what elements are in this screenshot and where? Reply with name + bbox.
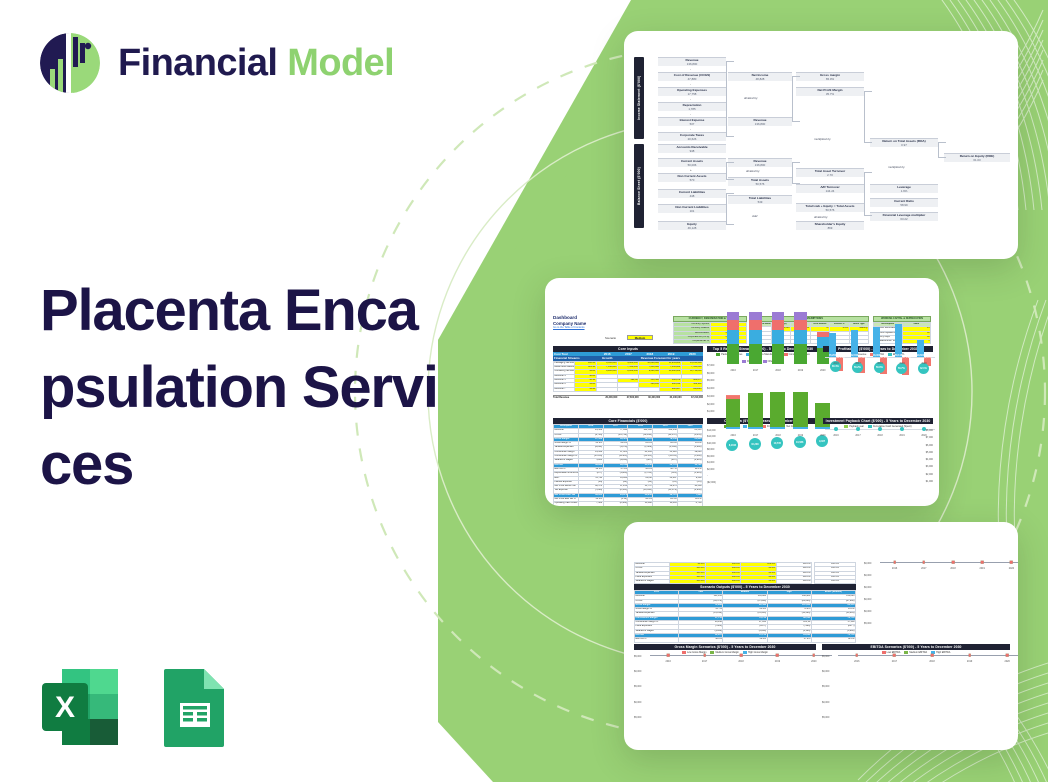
scenario-assumptions-table: Revenue80.0%100.0%120.0%100.0%COGS105.0%… [634,562,812,584]
scenario-outputs-table: KPIsLowMediumHighActive (Medium) Revenue… [634,590,856,643]
bar-segment [749,344,762,364]
axis-tick-label: $8,000 [707,448,714,451]
total-value: 34,100,000 [660,396,681,400]
data-point [878,427,882,431]
legend-label: High EBITDA [936,651,950,654]
axis-tick-label: $6,000 [707,372,714,375]
table-of-contents-link[interactable]: Go to the Table of Contents [553,326,586,330]
axis-tick-label: $0,000 [864,562,871,565]
core-financials-panel: Core Financials ($'000) Description20162… [553,418,703,506]
operator-label: divided by [746,169,760,173]
bar-netcashflow [748,427,763,429]
cell: Contribution Margin % [554,455,579,459]
axis-tick-label: 2020 [921,362,926,365]
cell: EBITDA % [635,638,679,642]
axis-tick-label: - [707,474,708,477]
legend-swatch [882,651,886,653]
axis-tick-label: 2018 [738,660,743,663]
bar-column [727,312,740,364]
node-value: 101 [658,209,726,213]
scenario-card[interactable]: Revenue80.0%100.0%120.0%100.0%COGS105.0%… [624,522,1018,750]
bar-column [749,312,762,364]
legend-swatch [743,425,747,427]
bar-netcashflow [726,427,741,429]
bar-segment [749,330,762,345]
bar-segment [749,312,762,320]
axis-tick-label: 2018 [775,434,780,437]
axis-tick-label: $0,000 [864,598,871,601]
node-value: 136,800 [728,163,792,167]
chart-plot: $5,000$0,000$5,000$0,000$5,000 201620172… [822,655,1010,731]
bar-value-label: (15,620) [858,357,867,359]
data-point [893,561,896,564]
node-value: 48,828 [728,77,792,81]
cell: Depreciation & Amortisation [554,472,579,476]
data-point [923,561,926,564]
axis-tick-label: $3,000 [926,465,933,468]
axis-tick-label: 2018 [775,369,780,372]
bar-revenue [829,333,836,357]
axis-tick-label: 2018 [929,660,934,663]
dashboard-card[interactable]: Dashboard Company Name Go to the Table o… [545,278,939,506]
subheader-unit: Growth [597,356,618,360]
bar-segment [772,344,785,364]
bar-revenue [873,327,880,357]
bar-segment [772,312,785,320]
tree-node-roe: Return on Equity (ROE) 61.03 [944,153,1010,162]
axis-tick-label: $5,000 [634,685,641,688]
legend-swatch [710,651,714,653]
google-sheets-icon[interactable] [150,663,238,751]
axis-tick-label: 2018 [950,567,955,570]
bar-segment [727,344,740,364]
connector [792,76,800,122]
axis-tick-label: $0,000 [634,701,641,704]
bar-operating [726,399,741,429]
legend-item: Medium EBITDA [904,651,927,654]
data-point [813,654,816,657]
cell: 40.2% [679,638,723,642]
total-label: Total Revenue [553,396,596,400]
total-value: 30,400,000 [639,396,660,400]
connector [792,162,800,184]
tree-node: Current Ratio 58.99 [870,198,938,207]
bar-netcashflow [793,427,808,429]
brand-logo-text-secondary: Model [287,42,394,84]
legend-item: Medium Gross Margin [710,651,739,654]
axis-tick-label: $2,000 [707,403,714,406]
scenario-label: Scenario [605,336,616,340]
tree-node: Net Income 48,828 [728,72,792,81]
axis-tick-label: $0,000 [864,610,871,613]
bar-value-label: (10,208) [836,357,845,359]
node-value: 50,006 [658,163,726,167]
operator-label: Add [752,214,757,218]
axis-tick-label: $5,000 [864,622,871,625]
axis-tick-label: $5,000 [822,655,829,658]
tree-node: Leverage 1.9% [870,184,938,193]
axis-tick-label: 2016 [833,434,838,437]
data-point [703,654,706,657]
bar-segment [794,344,807,364]
tree-node: Total Asset Turnover 2.70 [796,168,864,177]
data-point [834,427,838,431]
connector [864,91,872,143]
cell: 57.0% [767,638,811,642]
group-label-income-statement: Income Statement ($'000) [634,57,644,139]
cell: Packaging Services [554,361,575,365]
axis-tick-label: $6,000 [926,444,933,447]
bar-revenue [895,324,902,357]
legend-item: Low EBITDA [882,651,901,654]
node-value: 1.9% [870,189,938,193]
data-point [952,561,955,564]
legend-swatch [743,651,747,653]
axis-tick-label: $8,000 [926,429,933,432]
connector [726,61,734,137]
brand-logo-text-primary: Financial [118,42,277,84]
dashboard-titleblock: Dashboard Company Name Go to the Table o… [553,315,586,330]
cell: Net Profit after tax % [554,498,579,502]
axis-tick-label: 2016 [892,567,897,570]
tree-node: Total Liab + Equity = Total Assets 50,57… [796,203,864,212]
value-bubble: 8,1044 [726,439,738,451]
cell: 600,007 [660,387,681,391]
axis-tick-label: $5,000 [822,716,829,719]
tree-node: Accounts Receivable 948 [658,144,726,153]
data-point [856,654,859,657]
legend-label: Revenue [857,353,867,356]
axis-tick-label: 2019 [798,434,803,437]
axis-tick-label: 2016 [666,660,671,663]
bar-segment [794,330,807,345]
bar-column [772,312,785,364]
tree-node: Gross margin 65.0% [796,72,864,81]
axis-tick-label: 2017 [855,362,860,365]
bar-segment [794,320,807,329]
node-value: 869 [796,226,864,230]
axis-tick-label: 2018 [877,362,882,365]
operator-label: divided by [744,96,758,100]
chart-title: EBITDA Scenarios ($'000) - 5 Years to De… [822,644,1010,650]
tree-node: Non Current Assets 570 [658,173,726,182]
chart-plot: $5,000$0,000$5,000$0,000$5,000 201620172… [634,655,816,731]
node-value: 1,785 [658,107,726,111]
chart-plot: $0,000$0,000$0,000$0,000$0,000$5,000 201… [864,562,1010,634]
investment-payback-chart: Investment Payback Chart ($'000) - 5 Yea… [823,418,933,487]
financial-model-logo-icon [36,29,104,97]
bar-value-label: (17,204) [880,357,889,359]
chart-title: Investment Payback Chart ($'000) - 5 Yea… [823,418,933,424]
bar-revenue [851,330,858,357]
value-bubble: 10,586 [794,436,806,448]
total-value: 20,200,000 [596,396,617,400]
bar-segment [749,320,762,329]
scenario-sheet: Revenue80.0%100.0%120.0%100.0%COGS105.0%… [624,522,1018,750]
operator-label: multiplied by [814,137,831,141]
axis-tick-label: 2016 [731,369,736,372]
brand-logo-text: Financial Model [118,44,394,82]
y-axis-right: $8,000$7,000$6,000$5,000$4,000$3,000$2,0… [920,429,933,487]
cell: 1a,0000 [681,387,702,391]
bar-value-label: 46,400 [873,355,880,357]
bar-value-label: 35,200 [829,355,836,357]
axis-tick-label: $5,000 [822,685,829,688]
axis-tick-label: 2019 [798,369,803,372]
legend-item: High Gross Margin [743,651,768,654]
cell: Consulting Services [554,370,575,374]
data-point [1010,561,1013,564]
legend-item: Payback year [844,425,863,428]
cell: Operating Cash Flows [554,502,579,506]
axis-tick-label: 2019 [980,567,985,570]
node-value: 65.0% [796,77,864,81]
dashboard-sheet: Dashboard Company Name Go to the Table o… [545,278,939,506]
page-title: Placenta Encapsulation Services [40,272,440,503]
scenario-outputs-panel: Scenario Outputs ($'000) - 5 Years to De… [634,584,856,643]
bar-segment [794,312,807,320]
scenario-select[interactable]: Medium [627,335,653,340]
table-row: EBITDA %40.2%52.0%57.0%52.0% [635,638,856,642]
axis-tick-label: $4,000 [707,461,714,464]
total-value: 37,210,000 [682,396,703,400]
axis-tick-label: 2017 [892,660,897,663]
node-value: 50,576 [728,182,792,186]
cell: 52.0% [723,638,767,642]
driver-tree-sheet: Income Statement ($'000) Balance Sheet (… [624,31,1018,259]
tree-node: Equity 49,128 [658,221,726,230]
node-value: 136,800 [728,122,792,126]
svg-text:X: X [55,691,75,724]
cell [639,387,660,391]
axis-tick-label: $0,000 [822,670,829,673]
legend-item: High EBITDA [931,651,950,654]
axis-tick-label: $5,000 [926,451,933,454]
axis-tick-label: $7,000 [926,436,933,439]
bar-operating [770,392,785,429]
data-point [856,427,860,431]
bar-operating [793,392,808,429]
sa-rows: Revenue80.0%100.0%120.0%100.0%COGS105.0%… [635,563,812,584]
operator-label: divided by [814,215,828,219]
axis-tick-label: $2,000 [707,468,714,471]
scenario-assumptions-panel: Revenue80.0%100.0%120.0%100.0%COGS105.0%… [634,562,812,584]
legend-swatch [844,425,848,427]
data-point [900,427,904,431]
tree-node: Net Profit Margin 35.7% [796,87,864,96]
tree-node: Total Assets 50,576 [728,177,792,186]
axis-tick-label: $0,000 [864,586,871,589]
chart-legend: Low Gross MarginMedium Gross MarginHigh … [634,651,816,654]
y-axis: $5,000$0,000$5,000$0,000$5,000 [634,655,649,731]
tree-node: Total Liabilities 549 [728,195,792,204]
chart-plot: $14,000$12,000$10,000$8,000$6,000$4,000$… [707,429,819,487]
cell: Revenue 7 [554,387,575,391]
tree-node: Revenue 136,800 [728,117,792,126]
axis-tick-label: $5,000 [634,655,641,658]
tree-node: Depreciation 1,785 [658,102,726,111]
node-value: 136,800 [658,62,726,66]
node-value: 49,128 [658,226,726,230]
y-axis: $0,000$0,000$0,000$0,000$0,000$5,000 [864,562,879,634]
axis-tick-label: 2018 [877,434,882,437]
bar-segment [727,330,740,345]
legend-swatch [682,651,686,653]
bar-segment [727,320,740,329]
tree-node: Financial Leverage multiplier 63.22 [870,212,938,221]
axis-tick-label: $2,000 [926,473,933,476]
axis-tick-label: $0,000 [864,574,871,577]
axis-tick-label: 2017 [753,434,758,437]
axis-tick-label: 2017 [855,434,860,437]
file-format-badges: X [36,663,238,751]
axis-tick-label: $7,000 [707,364,714,367]
data-point [667,654,670,657]
legend-item: Cumulative Cash Generated (Spent) [868,425,912,428]
subheader-right: Revenue Forecast for years [618,356,703,360]
legend-swatch [868,425,872,427]
tree-node: Non Current Liabilities 101 [658,204,726,213]
axis-tick-label: 2020 [1005,660,1010,663]
axis-tick-label: 2019 [899,434,904,437]
node-value: 61.03 [944,158,1010,162]
cell: Corporate tax % [674,340,711,344]
axis-tick-label: 2020 [1009,567,1014,570]
y-axis: $14,000$12,000$10,000$8,000$6,000$4,000$… [707,429,721,487]
axis-tick-label: $4,000 [926,458,933,461]
bar-column [794,312,807,364]
bar-value-label: 50,148 [895,355,902,357]
axis-tick-label: 2016 [854,660,859,663]
scenario-active-panel: 100.0%100.0%100.0%100.0%100.0% [814,562,856,584]
node-value: 50,576 [796,208,864,212]
legend-swatch [888,353,892,355]
node-value: 448 [658,194,726,198]
bar-segment [727,312,740,320]
operator-label: multiplied by [888,165,905,169]
ebitda-scenarios-chart: EBITDA Scenarios ($'000) - 5 Years to De… [822,644,1010,731]
data-point [776,654,779,657]
data-point [931,654,934,657]
tree-node: Revenue 136,800 [728,158,792,167]
axis-tick-label: 2019 [899,362,904,365]
bar-financing [726,395,741,399]
node-value: 0.97 [870,143,938,147]
chart-legend: Low EBITDAMedium EBITDAHigh EBITDA [822,651,1010,654]
axis-tick-label: 2019 [967,660,972,663]
node-value: 17,758 [658,92,726,96]
tree-node: Return on Total Assets (ROA) 0.97 [870,138,938,147]
subheader-left: Financial Streams [553,356,597,360]
excel-icon[interactable]: X [36,663,124,751]
core-inputs-rows: Packaging Services860.308,500,0009,880,0… [554,361,703,391]
node-value: 63.22 [870,217,938,221]
value-bubble: 10,238 [749,438,761,450]
chart-title: Gross Margin Scenarios ($'000) - 5 Years… [634,644,816,650]
axis-tick-label: $3,000 [707,395,714,398]
revenue-scenarios-chart: $0,000$0,000$0,000$0,000$0,000$5,000 201… [864,562,1010,634]
legend-label: Medium Gross Margin [715,651,739,654]
node-value: 47,880 [658,77,726,81]
core-inputs-panel: Core Inputs Cost Tool 2016 2017 2018 201… [553,346,703,400]
bar-value-label: 29,600 [917,355,924,357]
tree-node: Revenue 136,800 [658,57,726,66]
driver-tree-card[interactable]: Income Statement ($'000) Balance Sheet (… [624,31,1018,259]
axis-tick-label: $10,000 [707,442,716,445]
axis-tick-label: $12,000 [707,435,716,438]
connector [726,162,734,180]
cell [617,387,638,391]
node-value: 58.99 [870,203,938,207]
node-value: 2.70 [796,173,864,177]
brand-logo: Financial Model [36,29,394,97]
node-value: 549 [728,200,792,204]
data-point [1006,654,1009,657]
table-row: Revenue 712.40600,0071a,0000 [554,387,703,391]
tree-node: Operating Expenses 17,758 [658,87,726,96]
cf-rows: Revenue24,30077,040104,500132,15023,310C… [554,429,703,506]
total-value: 27,600,000 [617,396,638,400]
axis-tick-label: 2017 [702,660,707,663]
legend-label: Medium EBITDA [909,651,927,654]
node-value: 537 [658,122,726,126]
axis-tick-label: $1,000 [926,480,933,483]
axis-tick-label: 2016 [731,434,736,437]
value-bubble: 10,735 [771,437,783,449]
axis-tick-label: $0,000 [634,670,641,673]
node-value: 948 [658,149,726,153]
axis-tick-label: $1,000 [707,410,714,413]
legend-swatch [716,353,720,355]
bar-segment [772,320,785,329]
connector [938,142,946,158]
tree-node: Cost of Revenue (COGS) 47,880 [658,72,726,81]
cell: 52.0% [811,638,855,642]
legend-swatch [904,651,908,653]
axis-tick-label: 2017 [753,369,758,372]
data-point [740,654,743,657]
cell: Net Profit Before Tax [554,485,579,489]
axis-tick-label: $5,000 [707,379,714,382]
bar-segment [772,330,785,345]
slide-canvas: Financial Model Placenta Encapsulation S… [0,0,1048,782]
tree-node: Interest Expense 537 [658,117,726,126]
node-value: 144.24 [796,189,864,193]
axis-tick-label: 2016 [833,362,838,365]
bar-operating [748,393,763,429]
axis-tick-label: 2019 [775,660,780,663]
node-value: 570 [658,178,726,182]
chart-plot: 20162017201820192020 $8,000$7,000$6,000$… [823,429,933,487]
tree-node: Current Liabilities 448 [658,189,726,198]
y-axis: $5,000$0,000$5,000$0,000$5,000 [822,655,837,731]
cell: Retail Store Manufacturing [554,366,575,370]
tree-node: Current Assets 50,006 [658,158,726,167]
data-point [968,654,971,657]
connector [726,193,734,225]
axis-tick-label: $5,000 [634,716,641,719]
bar-value-label: (17,448) [902,357,911,359]
chart-plot: 35,200(10,208)60.4%42,040(15,620)50.2%46… [823,357,933,411]
legend-label: High Gross Margin [748,651,768,654]
cell [596,387,617,391]
legend-swatch [763,360,767,362]
bar-netcashflow [770,427,785,429]
so-rows: Revenue131,130156,800196,380156,800COGS(… [635,595,856,642]
core-inputs-table: Packaging Services860.308,500,0009,880,0… [553,361,703,392]
axis-tick-label: 2017 [921,567,926,570]
bar-value-label: 42,040 [851,355,858,357]
